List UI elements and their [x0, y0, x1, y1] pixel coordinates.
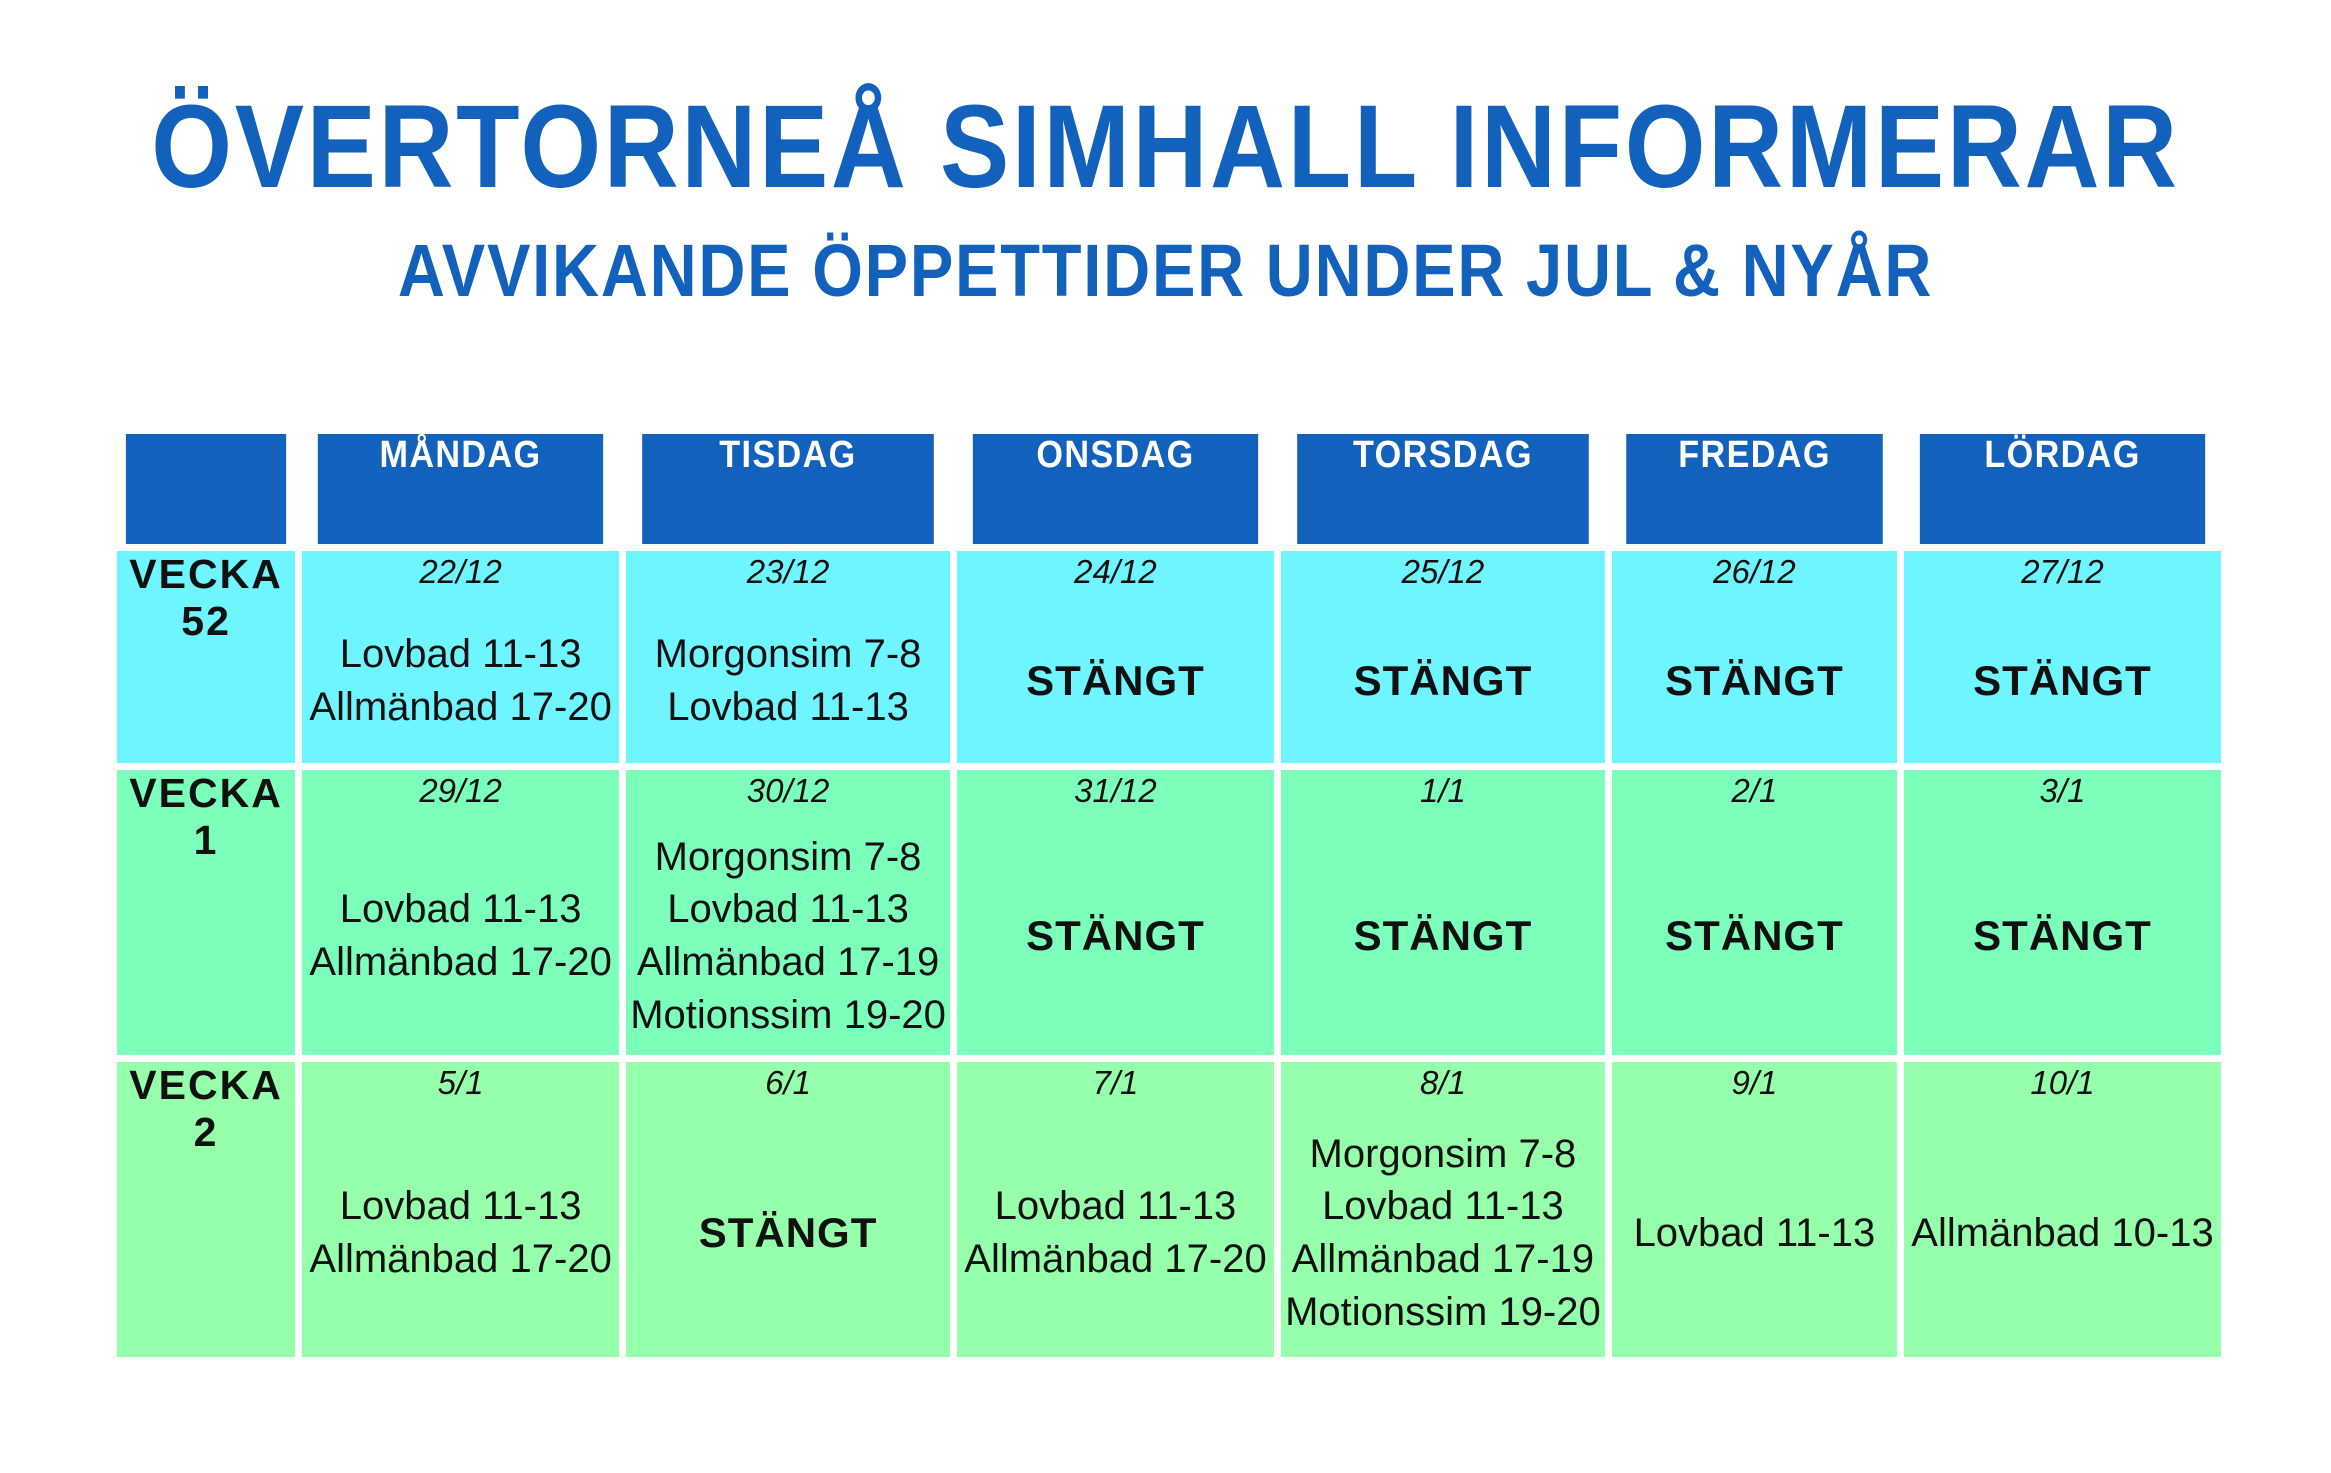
- activity-line: Allmänbad 17-20: [964, 1233, 1266, 1286]
- column-header-mandag: MÅNDAG: [318, 434, 603, 544]
- table-row: VECKA 25/1Lovbad 11-13Allmänbad 17-206/1…: [117, 1062, 2221, 1357]
- poster-root: ÖVERTORNEÅ SIMHALL INFORMERAR AVVIKANDE …: [0, 0, 2331, 1473]
- table-header: MÅNDAG TISDAG ONSDAG TORSDAG FREDAG LÖRD…: [117, 434, 2221, 544]
- cell-entries: STÄNGT: [1354, 653, 1533, 708]
- activity-line: Motionssim 19-20: [1285, 1286, 1601, 1339]
- cell-entries: Allmänbad 10-13: [1911, 1207, 2213, 1260]
- week-label-cell: VECKA 2: [117, 1062, 295, 1357]
- schedule-cell: 7/1Lovbad 11-13Allmänbad 17-20: [957, 1062, 1274, 1357]
- schedule-cell: 24/12STÄNGT: [957, 551, 1274, 763]
- cell-date: 30/12: [747, 770, 830, 811]
- opening-hours-table: MÅNDAG TISDAG ONSDAG TORSDAG FREDAG LÖRD…: [110, 427, 2228, 1364]
- activity-line: Allmänbad 17-20: [309, 681, 611, 734]
- activity-line: Lovbad 11-13: [1322, 1180, 1564, 1233]
- status-badge-closed: STÄNGT: [1665, 908, 1844, 963]
- schedule-cell: 8/1Morgonsim 7-8Lovbad 11-13Allmänbad 17…: [1281, 1062, 1605, 1357]
- cell-date: 5/1: [438, 1062, 484, 1103]
- week-label-cell: VECKA 52: [117, 551, 295, 763]
- activity-line: Motionssim 19-20: [630, 989, 946, 1042]
- schedule-cell: 27/12STÄNGT: [1904, 551, 2221, 763]
- activity-line: Lovbad 11-13: [1634, 1207, 1876, 1260]
- activity-line: Morgonsim 7-8: [1310, 1128, 1577, 1181]
- schedule-cell: 2/1STÄNGT: [1612, 770, 1897, 1055]
- table-corner-cell: [126, 434, 286, 544]
- activity-line: Lovbad 11-13: [340, 628, 582, 681]
- page-subtitle: AVVIKANDE ÖPPETTIDER UNDER JUL & NYÅR: [140, 234, 2191, 308]
- cell-entries: Lovbad 11-13: [1634, 1207, 1876, 1260]
- activity-line: Morgonsim 7-8: [655, 831, 922, 884]
- column-header-torsdag: TORSDAG: [1297, 434, 1589, 544]
- activity-line: Allmänbad 17-19: [637, 936, 939, 989]
- cell-entries: Morgonsim 7-8Lovbad 11-13: [655, 628, 922, 734]
- schedule-cell: 26/12STÄNGT: [1612, 551, 1897, 763]
- cell-entries: Lovbad 11-13Allmänbad 17-20: [309, 628, 611, 734]
- activity-line: Lovbad 11-13: [340, 883, 582, 936]
- status-badge-closed: STÄNGT: [1026, 908, 1205, 963]
- schedule-cell: 1/1STÄNGT: [1281, 770, 1605, 1055]
- cell-date: 7/1: [1093, 1062, 1139, 1103]
- schedule-cell: 3/1STÄNGT: [1904, 770, 2221, 1055]
- schedule-cell: 22/12Lovbad 11-13Allmänbad 17-20: [302, 551, 619, 763]
- activity-line: Allmänbad 10-13: [1911, 1207, 2213, 1260]
- cell-date: 3/1: [2040, 770, 2086, 811]
- cell-date: 1/1: [1420, 770, 1466, 811]
- activity-line: Allmänbad 17-20: [309, 1233, 611, 1286]
- column-header-onsdag: ONSDAG: [973, 434, 1258, 544]
- cell-entries: STÄNGT: [1973, 653, 2152, 708]
- status-badge-closed: STÄNGT: [1026, 653, 1205, 708]
- activity-line: Lovbad 11-13: [667, 883, 909, 936]
- cell-date: 9/1: [1731, 1062, 1777, 1103]
- cell-entries: STÄNGT: [1026, 908, 1205, 963]
- cell-date: 10/1: [2030, 1062, 2094, 1103]
- status-badge-closed: STÄNGT: [1973, 908, 2152, 963]
- cell-date: 31/12: [1074, 770, 1157, 811]
- activity-line: Morgonsim 7-8: [655, 628, 922, 681]
- cell-entries: STÄNGT: [1354, 908, 1533, 963]
- cell-entries: STÄNGT: [1665, 653, 1844, 708]
- status-badge-closed: STÄNGT: [1665, 653, 1844, 708]
- cell-date: 8/1: [1420, 1062, 1466, 1103]
- cell-date: 26/12: [1713, 551, 1796, 592]
- schedule-cell: 30/12Morgonsim 7-8Lovbad 11-13Allmänbad …: [626, 770, 950, 1055]
- schedule-cell: 5/1Lovbad 11-13Allmänbad 17-20: [302, 1062, 619, 1357]
- status-badge-closed: STÄNGT: [699, 1205, 878, 1260]
- cell-date: 24/12: [1074, 551, 1157, 592]
- activity-line: Lovbad 11-13: [340, 1180, 582, 1233]
- column-header-lordag: LÖRDAG: [1920, 434, 2205, 544]
- activity-line: Allmänbad 17-20: [309, 936, 611, 989]
- schedule-cell: 10/1Allmänbad 10-13: [1904, 1062, 2221, 1357]
- cell-entries: Morgonsim 7-8Lovbad 11-13Allmänbad 17-19…: [630, 831, 946, 1042]
- schedule-cell: 9/1Lovbad 11-13: [1612, 1062, 1897, 1357]
- table-row: VECKA 5222/12Lovbad 11-13Allmänbad 17-20…: [117, 551, 2221, 763]
- cell-date: 22/12: [419, 551, 502, 592]
- cell-entries: STÄNGT: [699, 1205, 878, 1260]
- status-badge-closed: STÄNGT: [1354, 908, 1533, 963]
- cell-entries: Lovbad 11-13Allmänbad 17-20: [964, 1180, 1266, 1286]
- cell-entries: Morgonsim 7-8Lovbad 11-13Allmänbad 17-19…: [1285, 1128, 1601, 1339]
- cell-date: 23/12: [747, 551, 830, 592]
- page-title: ÖVERTORNEÅ SIMHALL INFORMERAR: [140, 88, 2191, 206]
- schedule-cell: 6/1STÄNGT: [626, 1062, 950, 1357]
- schedule-cell: 25/12STÄNGT: [1281, 551, 1605, 763]
- cell-entries: STÄNGT: [1665, 908, 1844, 963]
- schedule-cell: 31/12STÄNGT: [957, 770, 1274, 1055]
- activity-line: Lovbad 11-13: [995, 1180, 1237, 1233]
- column-header-fredag: FREDAG: [1626, 434, 1883, 544]
- cell-date: 25/12: [1402, 551, 1485, 592]
- week-label-cell: VECKA 1: [117, 770, 295, 1055]
- activity-line: Lovbad 11-13: [667, 681, 909, 734]
- cell-date: 27/12: [2021, 551, 2104, 592]
- schedule-cell: 23/12Morgonsim 7-8Lovbad 11-13: [626, 551, 950, 763]
- activity-line: Allmänbad 17-19: [1292, 1233, 1594, 1286]
- title-block: ÖVERTORNEÅ SIMHALL INFORMERAR AVVIKANDE …: [0, 0, 2331, 308]
- cell-entries: Lovbad 11-13Allmänbad 17-20: [309, 883, 611, 989]
- cell-date: 2/1: [1731, 770, 1777, 811]
- table-row: VECKA 129/12Lovbad 11-13Allmänbad 17-203…: [117, 770, 2221, 1055]
- status-badge-closed: STÄNGT: [1973, 653, 2152, 708]
- cell-date: 6/1: [765, 1062, 811, 1103]
- table-header-row: MÅNDAG TISDAG ONSDAG TORSDAG FREDAG LÖRD…: [117, 434, 2221, 544]
- table-body: VECKA 5222/12Lovbad 11-13Allmänbad 17-20…: [117, 551, 2221, 1357]
- column-header-tisdag: TISDAG: [642, 434, 934, 544]
- cell-entries: STÄNGT: [1973, 908, 2152, 963]
- cell-date: 29/12: [419, 770, 502, 811]
- cell-entries: Lovbad 11-13Allmänbad 17-20: [309, 1180, 611, 1286]
- cell-entries: STÄNGT: [1026, 653, 1205, 708]
- schedule-cell: 29/12Lovbad 11-13Allmänbad 17-20: [302, 770, 619, 1055]
- status-badge-closed: STÄNGT: [1354, 653, 1533, 708]
